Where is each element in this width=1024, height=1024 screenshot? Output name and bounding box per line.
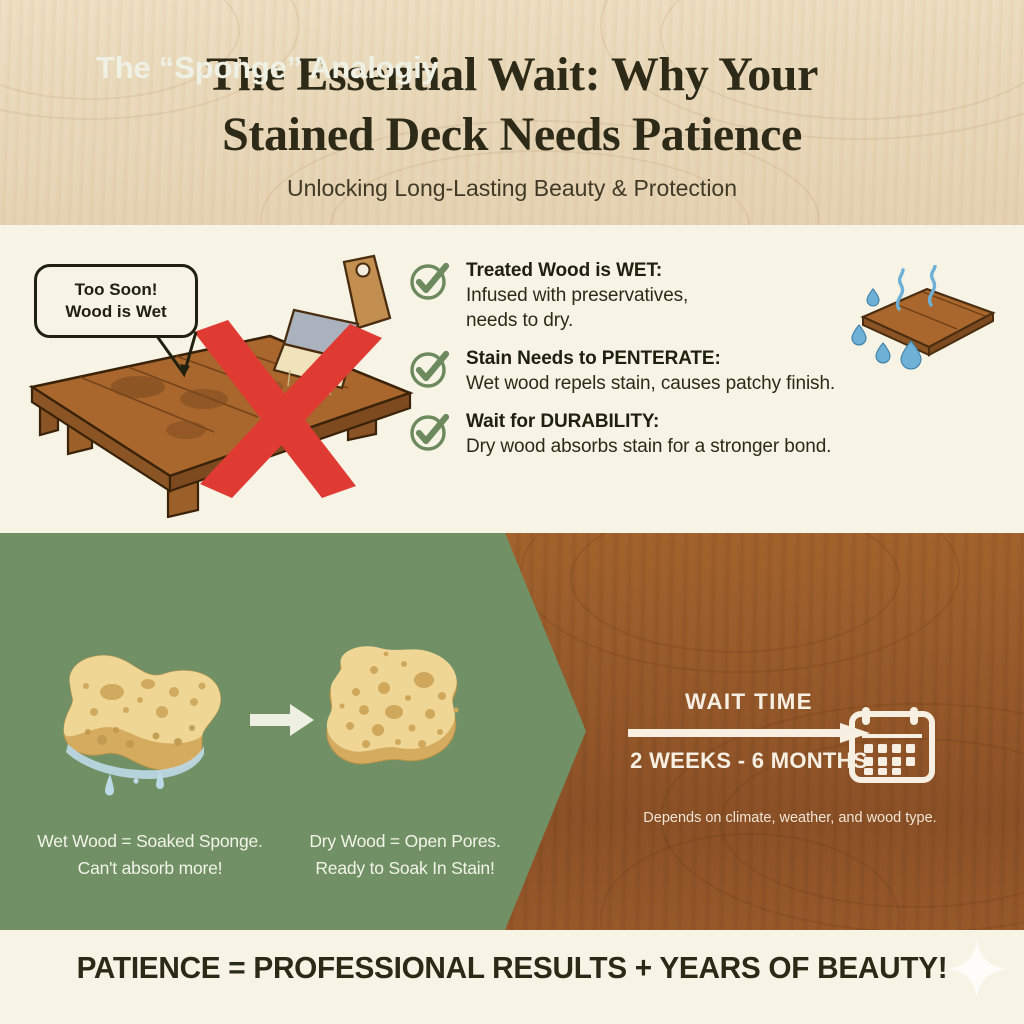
checklist-item-body-line1: Dry wood absorbs stain for a stronger bo… [466, 434, 831, 459]
check-circle-icon [408, 410, 452, 454]
dry-sponge-caption-line1: Dry Wood = Open Pores. [286, 828, 524, 855]
checklist-item: Treated Wood is WET: Infused with preser… [408, 258, 968, 333]
dry-sponge-caption-line2: Ready to Soak In Stain! [286, 855, 524, 882]
checklist-item-heading: Treated Wood is WET: [466, 259, 688, 283]
page-subtitle: Unlocking Long-Lasting Beauty & Protecti… [0, 175, 1024, 202]
wet-sponge-icon [52, 640, 252, 800]
speech-bubble: Too Soon! Wood is Wet [34, 264, 198, 338]
sponge-analogy-title: The “Sponge” Analogiy [96, 50, 439, 86]
wait-time-note: Depends on climate, weather, and wood ty… [585, 810, 995, 826]
wet-sponge-caption-line1: Wet Wood = Soaked Sponge. [10, 828, 290, 855]
wait-time-label: WAIT TIME [629, 689, 869, 715]
footer-tagline: PATIENCE = PROFESSIONAL RESULTS + YEARS … [20, 950, 1003, 986]
checklist-item-body-line2: needs to dry. [466, 308, 688, 333]
speech-bubble-line1: Too Soon! [75, 279, 158, 301]
wet-sponge-caption-line2: Can't absorb more! [10, 855, 290, 882]
checklist-item-body-line1: Wet wood repels stain, causes patchy fin… [466, 371, 835, 396]
check-circle-icon [408, 259, 452, 303]
checklist-item: Wait for DURABILITY: Dry wood absorbs st… [408, 409, 968, 459]
sparkle-icon [946, 938, 1008, 1000]
right-arrow-icon [248, 700, 316, 740]
checklist-item-heading: Stain Needs to PENTERATE: [466, 347, 835, 371]
page-title-line2: Stained Deck Needs Patience [0, 105, 1024, 165]
speech-bubble-tail [150, 330, 210, 385]
calendar-icon [848, 702, 936, 784]
checklist-item: Stain Needs to PENTERATE: Wet wood repel… [408, 346, 968, 396]
speech-bubble-line2: Wood is Wet [65, 301, 166, 323]
dry-sponge-caption: Dry Wood = Open Pores. Ready to Soak In … [286, 828, 524, 882]
dry-sponge-icon [312, 640, 482, 790]
check-circle-icon [408, 347, 452, 391]
wet-sponge-caption: Wet Wood = Soaked Sponge. Can't absorb m… [10, 828, 290, 882]
checklist-item-body-line1: Infused with preservatives, [466, 283, 688, 308]
checklist-item-heading: Wait for DURABILITY: [466, 410, 831, 434]
header-banner: The Essential Wait: Why Your Stained Dec… [0, 0, 1024, 225]
wait-time-arrow-icon [628, 723, 870, 743]
checklist: Treated Wood is WET: Infused with preser… [408, 258, 968, 472]
wait-time-range: 2 WEEKS - 6 MONTHS [624, 748, 874, 774]
infographic-root: The Essential Wait: Why Your Stained Dec… [0, 0, 1024, 1024]
